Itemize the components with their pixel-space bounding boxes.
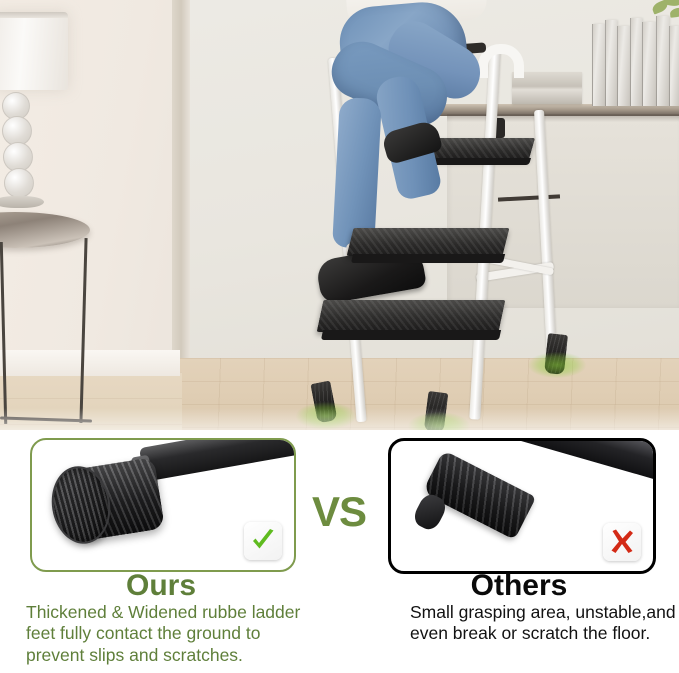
lamp-base-ball (4, 168, 34, 198)
ladder-step-edge (351, 254, 505, 263)
others-heading: Others (388, 571, 650, 601)
cross-icon (607, 527, 637, 557)
lamp-shade (0, 12, 68, 90)
baseboard (0, 350, 180, 376)
check-badge (244, 522, 282, 560)
lifestyle-scene (0, 0, 679, 452)
product-comparison-image: VS Ours Others Thickened & Widened rubbe… (0, 0, 679, 673)
comparison-section: VS Ours Others Thickened & Widened rubbe… (0, 430, 679, 673)
leaf (670, 7, 679, 18)
book (617, 26, 630, 106)
ours-description: Thickened & Widened rubbe ladder feet fu… (26, 602, 316, 666)
book (605, 20, 617, 106)
book (656, 16, 669, 106)
ours-heading: Ours (30, 571, 292, 601)
check-icon (248, 526, 278, 556)
ladder-step-middle (347, 228, 510, 256)
book (630, 18, 642, 106)
ladder-leg-shaft (139, 438, 296, 482)
book (642, 22, 656, 106)
ladder-leg-shaft (497, 438, 656, 480)
vs-label: VS (296, 488, 382, 536)
ladder-step-bottom (317, 300, 506, 332)
books-on-shelf (590, 12, 679, 106)
ladder-step-edge (321, 330, 501, 340)
rubber-foot-body (422, 450, 536, 540)
ours-panel (30, 438, 296, 572)
book (592, 24, 605, 106)
step-ladder-lower (290, 0, 590, 420)
others-panel (388, 438, 656, 574)
book (669, 26, 679, 106)
others-description: Small grasping area, unstable,and even b… (410, 602, 679, 645)
wall-jamb (172, 0, 190, 380)
cross-badge (603, 523, 641, 561)
plant-icon (648, 0, 679, 26)
lamp-foot (0, 196, 44, 208)
